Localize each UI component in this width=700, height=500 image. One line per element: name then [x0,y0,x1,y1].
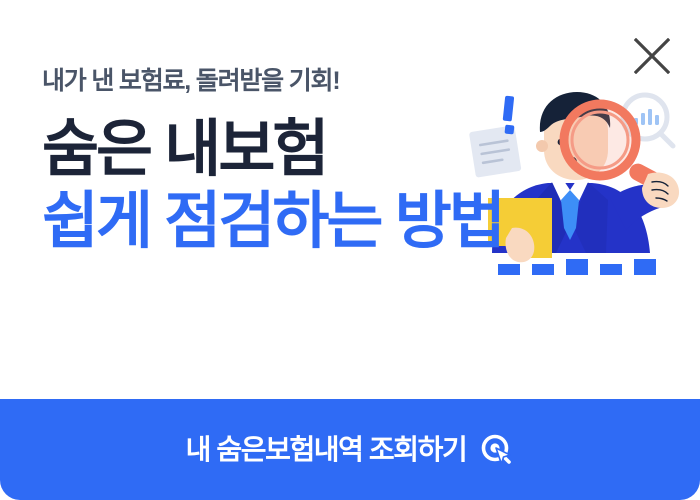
character-body [492,178,668,253]
right-hand [642,173,679,209]
magnifier-cursor-icon [480,433,514,467]
chart-magnifier-icon [623,95,673,146]
close-button[interactable] [630,34,674,78]
eyebrow-text: 내가 낸 보험료, 돌려받을 기회! [42,66,512,96]
cta-label: 내 숨은보험내역 조회하기 [186,436,467,464]
coral-magnifier [564,104,673,196]
cta-button[interactable]: 내 숨은보험내역 조회하기 [0,399,700,500]
character-head [536,92,610,180]
promo-banner: 내가 낸 보험료, 돌려받을 기회! 숨은 내보험 쉽게 점검하는 방법 [0,0,700,500]
headline-line-2: 쉽게 점검하는 방법 [42,190,512,254]
ground-dash-row [498,259,656,275]
headline-line-1: 숨은 내보험 [42,118,512,182]
headline-block: 내가 낸 보험료, 돌려받을 기회! 숨은 내보험 쉽게 점검하는 방법 [42,66,512,255]
close-x-icon [634,38,670,74]
